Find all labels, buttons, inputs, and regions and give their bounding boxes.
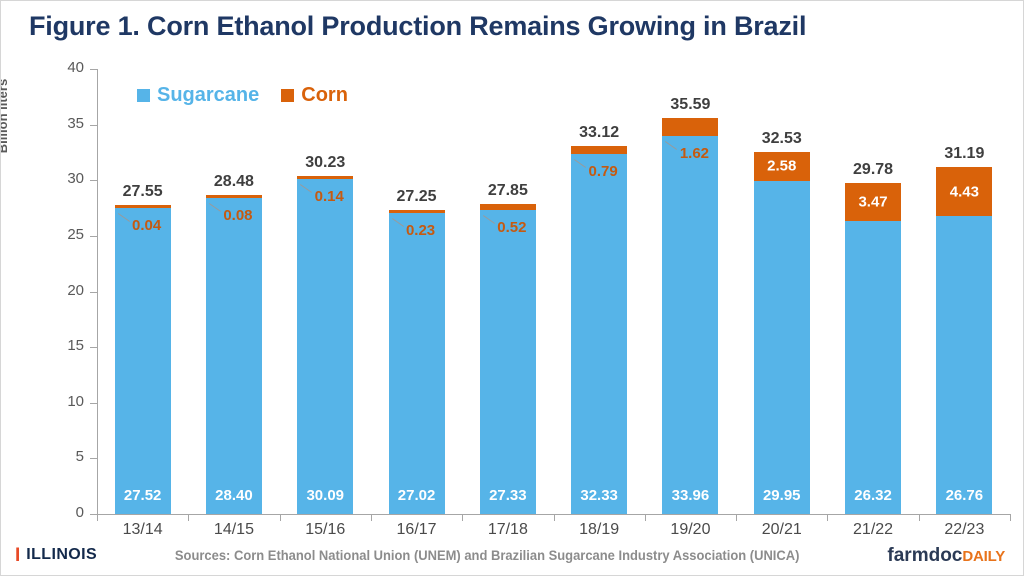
y-axis-tick-label: 30	[67, 170, 84, 187]
bar-segment-corn[interactable]	[389, 210, 445, 213]
bar-label-corn: 3.47	[845, 193, 901, 210]
y-axis-tick-label: 40	[67, 59, 84, 76]
bar-group[interactable]: 26.764.4331.19	[936, 167, 992, 514]
x-axis-tick	[919, 514, 920, 521]
y-axis-tick: 30	[90, 180, 97, 181]
y-axis-tick-label: 15	[67, 337, 84, 354]
y-axis-tick: 10	[90, 403, 97, 404]
bar-segment-sugarcane[interactable]: 30.09	[297, 179, 353, 514]
bar-label-corn: 0.04	[123, 217, 171, 234]
bar-group[interactable]: 29.952.5832.53	[754, 152, 810, 514]
bar-label-sugarcane: 27.52	[115, 487, 171, 504]
bar-label-sugarcane: 27.33	[480, 487, 536, 504]
bar-label-corn: 1.62	[670, 145, 718, 162]
bar-segment-sugarcane[interactable]: 27.02	[389, 213, 445, 514]
bar-label-sugarcane: 32.33	[571, 487, 627, 504]
bar-segment-sugarcane[interactable]: 26.32	[845, 221, 901, 514]
x-axis-tick	[1010, 514, 1011, 521]
bar-total-label: 30.23	[283, 154, 367, 172]
x-axis-tick	[97, 514, 98, 521]
y-axis-tick: 25	[90, 236, 97, 237]
x-axis-tick	[371, 514, 372, 521]
bar-total-label: 27.25	[375, 188, 459, 206]
bar-group[interactable]: 30.090.1430.23	[297, 178, 353, 514]
y-axis-tick: 20	[90, 292, 97, 293]
bar-group[interactable]: 27.520.0427.55	[115, 207, 171, 514]
bar-label-sugarcane: 29.95	[754, 487, 810, 504]
chart-figure: Figure 1. Corn Ethanol Production Remain…	[0, 0, 1024, 576]
x-axis-tick	[280, 514, 281, 521]
bar-segment-sugarcane[interactable]: 29.95	[754, 181, 810, 514]
bar-total-label: 35.59	[648, 96, 732, 114]
bar-group[interactable]: 27.330.5227.85	[480, 204, 536, 514]
y-axis-tick-label: 20	[67, 282, 84, 299]
bar-label-corn: 0.08	[214, 207, 262, 224]
bar-segment-corn[interactable]: 3.47	[845, 183, 901, 222]
bar-segment-corn[interactable]	[297, 176, 353, 179]
x-axis-tick	[188, 514, 189, 521]
bar-total-label: 29.78	[831, 161, 915, 179]
y-axis-tick: 35	[90, 125, 97, 126]
y-axis-tick-label: 0	[76, 504, 84, 521]
y-axis-tick: 40	[90, 69, 97, 70]
bar-segment-corn[interactable]	[206, 195, 262, 198]
y-axis-tick-label: 10	[67, 393, 84, 410]
bar-total-label: 32.53	[740, 130, 824, 148]
bar-total-label: 27.55	[101, 183, 185, 201]
farmdoc-daily-logo: farmdocDAILY	[887, 546, 1005, 565]
bar-label-sugarcane: 33.96	[662, 487, 718, 504]
bar-group[interactable]: 28.400.0828.48	[206, 197, 262, 514]
bar-label-corn: 4.43	[936, 183, 992, 200]
bar-label-sugarcane: 28.40	[206, 487, 262, 504]
x-axis-tick	[736, 514, 737, 521]
y-axis-tick-label: 25	[67, 226, 84, 243]
bar-label-corn: 0.14	[305, 188, 353, 205]
y-axis-line	[97, 69, 98, 514]
x-axis-tick	[645, 514, 646, 521]
bar-segment-sugarcane[interactable]: 26.76	[936, 216, 992, 514]
bar-label-corn: 0.79	[579, 163, 627, 180]
y-axis-tick: 0	[90, 514, 97, 515]
bar-segment-sugarcane[interactable]: 32.33	[571, 154, 627, 514]
bar-label-sugarcane: 26.76	[936, 487, 992, 504]
bar-label-corn: 0.52	[488, 219, 536, 236]
bar-group[interactable]: 27.020.2327.25	[389, 211, 445, 514]
bar-group[interactable]: 32.330.7933.12	[571, 146, 627, 514]
x-axis-tick	[827, 514, 828, 521]
bar-group[interactable]: 33.961.6235.59	[662, 118, 718, 514]
farmdoc-daily-suffix: DAILY	[962, 548, 1005, 565]
bar-label-sugarcane: 27.02	[389, 487, 445, 504]
bar-segment-corn[interactable]: 2.58	[754, 152, 810, 181]
sources-note: Sources: Corn Ethanol National Union (UN…	[103, 548, 871, 563]
y-axis-tick: 15	[90, 347, 97, 348]
bar-segment-sugarcane[interactable]: 33.96	[662, 136, 718, 514]
bar-label-sugarcane: 26.32	[845, 487, 901, 504]
bar-label-corn: 2.58	[754, 158, 810, 175]
page-title: Figure 1. Corn Ethanol Production Remain…	[29, 11, 806, 42]
x-axis-tick	[462, 514, 463, 521]
illinois-i-icon: I	[15, 546, 20, 565]
bar-total-label: 27.85	[466, 182, 550, 200]
bar-segment-sugarcane[interactable]: 27.52	[115, 208, 171, 514]
bar-segment-corn[interactable]: 4.43	[936, 167, 992, 216]
y-axis-tick-label: 5	[76, 448, 84, 465]
plot-area: 051015202530354027.520.0427.5513/1428.40…	[97, 69, 1010, 514]
y-axis-title: Billion liters	[0, 56, 10, 176]
x-axis-tick	[554, 514, 555, 521]
farmdoc-wordmark: farmdoc	[887, 545, 962, 566]
illinois-wordmark: ILLINOIS	[26, 546, 97, 564]
y-axis-tick-label: 35	[67, 115, 84, 132]
bar-segment-sugarcane[interactable]: 28.40	[206, 198, 262, 514]
bar-total-label: 33.12	[557, 124, 641, 142]
bar-group[interactable]: 26.323.4729.78	[845, 183, 901, 514]
footer: I ILLINOIS Sources: Corn Ethanol Nationa…	[1, 535, 1023, 575]
bar-segment-sugarcane[interactable]: 27.33	[480, 210, 536, 514]
bar-segment-corn[interactable]	[662, 118, 718, 136]
y-axis-tick: 5	[90, 458, 97, 459]
illinois-logo: I ILLINOIS	[15, 546, 97, 565]
bar-label-sugarcane: 30.09	[297, 487, 353, 504]
bar-total-label: 28.48	[192, 173, 276, 191]
bar-segment-corn[interactable]	[571, 146, 627, 155]
bar-segment-corn[interactable]	[115, 205, 171, 208]
bar-total-label: 31.19	[922, 145, 1006, 163]
bar-segment-corn[interactable]	[480, 204, 536, 210]
